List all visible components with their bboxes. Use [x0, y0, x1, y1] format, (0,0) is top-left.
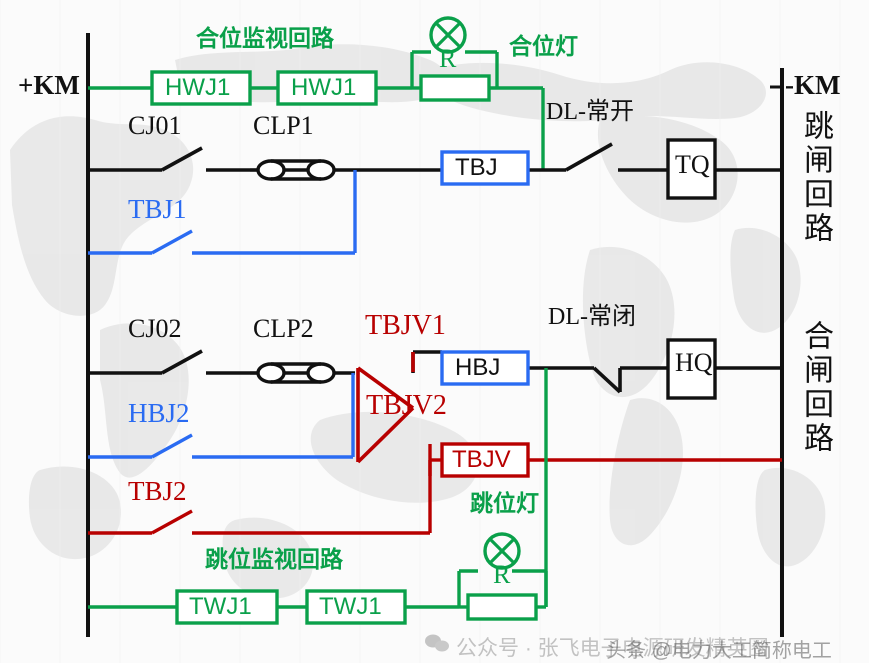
hq-coil-label: HQ	[675, 350, 713, 376]
wechat-icon	[424, 634, 450, 652]
hbj2-label: HBJ2	[128, 400, 190, 427]
bus-right-label: -KM	[785, 72, 840, 99]
tbjv1-label: TBJV1	[365, 312, 446, 340]
tbj1-label: TBJ1	[128, 196, 187, 223]
hwj1-b-label: HWJ1	[291, 76, 356, 100]
tbj2-label: TBJ2	[128, 478, 187, 505]
trip-lamp-resistor	[468, 595, 536, 619]
hbj-coil-label: HBJ	[455, 356, 500, 380]
circuit-diagram: 合位监视回路 +KM -KM HWJ1 HWJ1 R 合位灯 CJ01 CLP1…	[0, 0, 869, 663]
tbjv2-label: TBJV2	[366, 392, 447, 420]
close-lamp-name-label: 合位灯	[509, 35, 578, 58]
tq-coil-label: TQ	[675, 152, 710, 178]
clp2-label: CLP2	[253, 316, 314, 342]
tbj-coil-label: TBJ	[455, 156, 498, 180]
bus-left-label: +KM	[18, 72, 80, 99]
cj01-label: CJ01	[128, 113, 181, 139]
twj1-a-label: TWJ1	[189, 595, 252, 619]
trip-lamp-name-label: 跳位灯	[470, 492, 539, 515]
tbjv-coil-label: TBJV	[452, 448, 511, 472]
cj02-label: CJ02	[128, 316, 181, 342]
right-column-close-label: 合闸回路	[800, 320, 830, 456]
toutiao-watermark: 头条 @电力大工简称电工	[606, 634, 832, 663]
clp1-label: CLP1	[253, 113, 314, 139]
close-lamp-resistor	[421, 76, 489, 100]
close-lamp-r-label: R	[439, 46, 456, 72]
hwj1-a-label: HWJ1	[165, 76, 230, 100]
close-monitor-title: 合位监视回路	[196, 27, 334, 50]
dl-nc-label: DL-常闭	[548, 305, 636, 329]
trip-lamp-r-label: R	[493, 562, 510, 588]
twj1-b-label: TWJ1	[319, 595, 382, 619]
trip-monitor-title: 跳位监视回路	[205, 548, 343, 571]
dl-no-label: DL-常开	[546, 100, 634, 124]
right-column-trip-label: 跳闸回路	[800, 110, 830, 246]
